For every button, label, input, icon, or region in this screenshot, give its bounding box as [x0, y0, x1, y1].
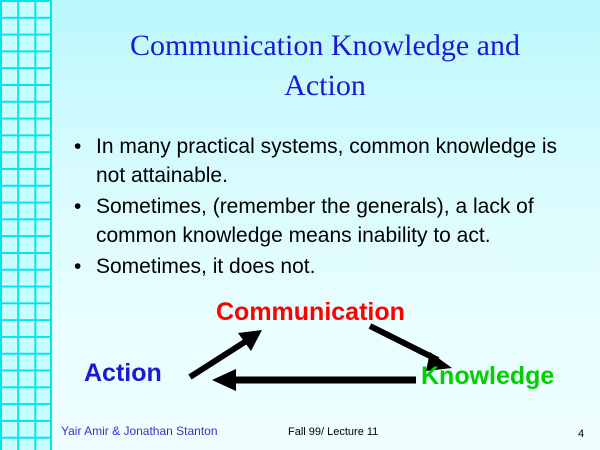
page-title-line-1: Communication Knowledge and [60, 26, 590, 66]
arrow-knowledge-to-action [212, 369, 416, 391]
list-item-text: Sometimes, (remember the generals), a la… [96, 192, 590, 250]
slide-canvas: Communication Knowledge and Action • In … [0, 0, 600, 450]
page-title: Communication Knowledge and Action [60, 26, 590, 106]
footer-course: Fall 99/ Lecture 11 [288, 426, 378, 438]
footer-page-number: 4 [578, 428, 584, 440]
arrow-action-to-communication [190, 330, 262, 377]
list-item: • Sometimes, it does not. [70, 252, 590, 281]
bullet-dot-icon: • [70, 192, 96, 221]
list-item: • Sometimes, (remember the generals), a … [70, 192, 590, 250]
diagram-node-action: Action [84, 359, 162, 388]
page-title-line-2: Action [60, 66, 590, 106]
list-item: • In many practical systems, common know… [70, 132, 590, 190]
bullet-dot-icon: • [70, 252, 96, 281]
list-item-text: In many practical systems, common knowle… [96, 132, 590, 190]
footer-divider [54, 416, 600, 417]
footer-authors: Yair Amir & Jonathan Stanton [61, 424, 218, 438]
diagram-node-communication: Communication [216, 298, 405, 327]
diagram-node-knowledge: Knowledge [421, 362, 554, 391]
bullet-dot-icon: • [70, 132, 96, 161]
bullet-list: • In many practical systems, common know… [70, 132, 590, 283]
list-item-text: Sometimes, it does not. [96, 252, 590, 281]
cycle-diagram: Communication Action Knowledge [0, 288, 600, 408]
